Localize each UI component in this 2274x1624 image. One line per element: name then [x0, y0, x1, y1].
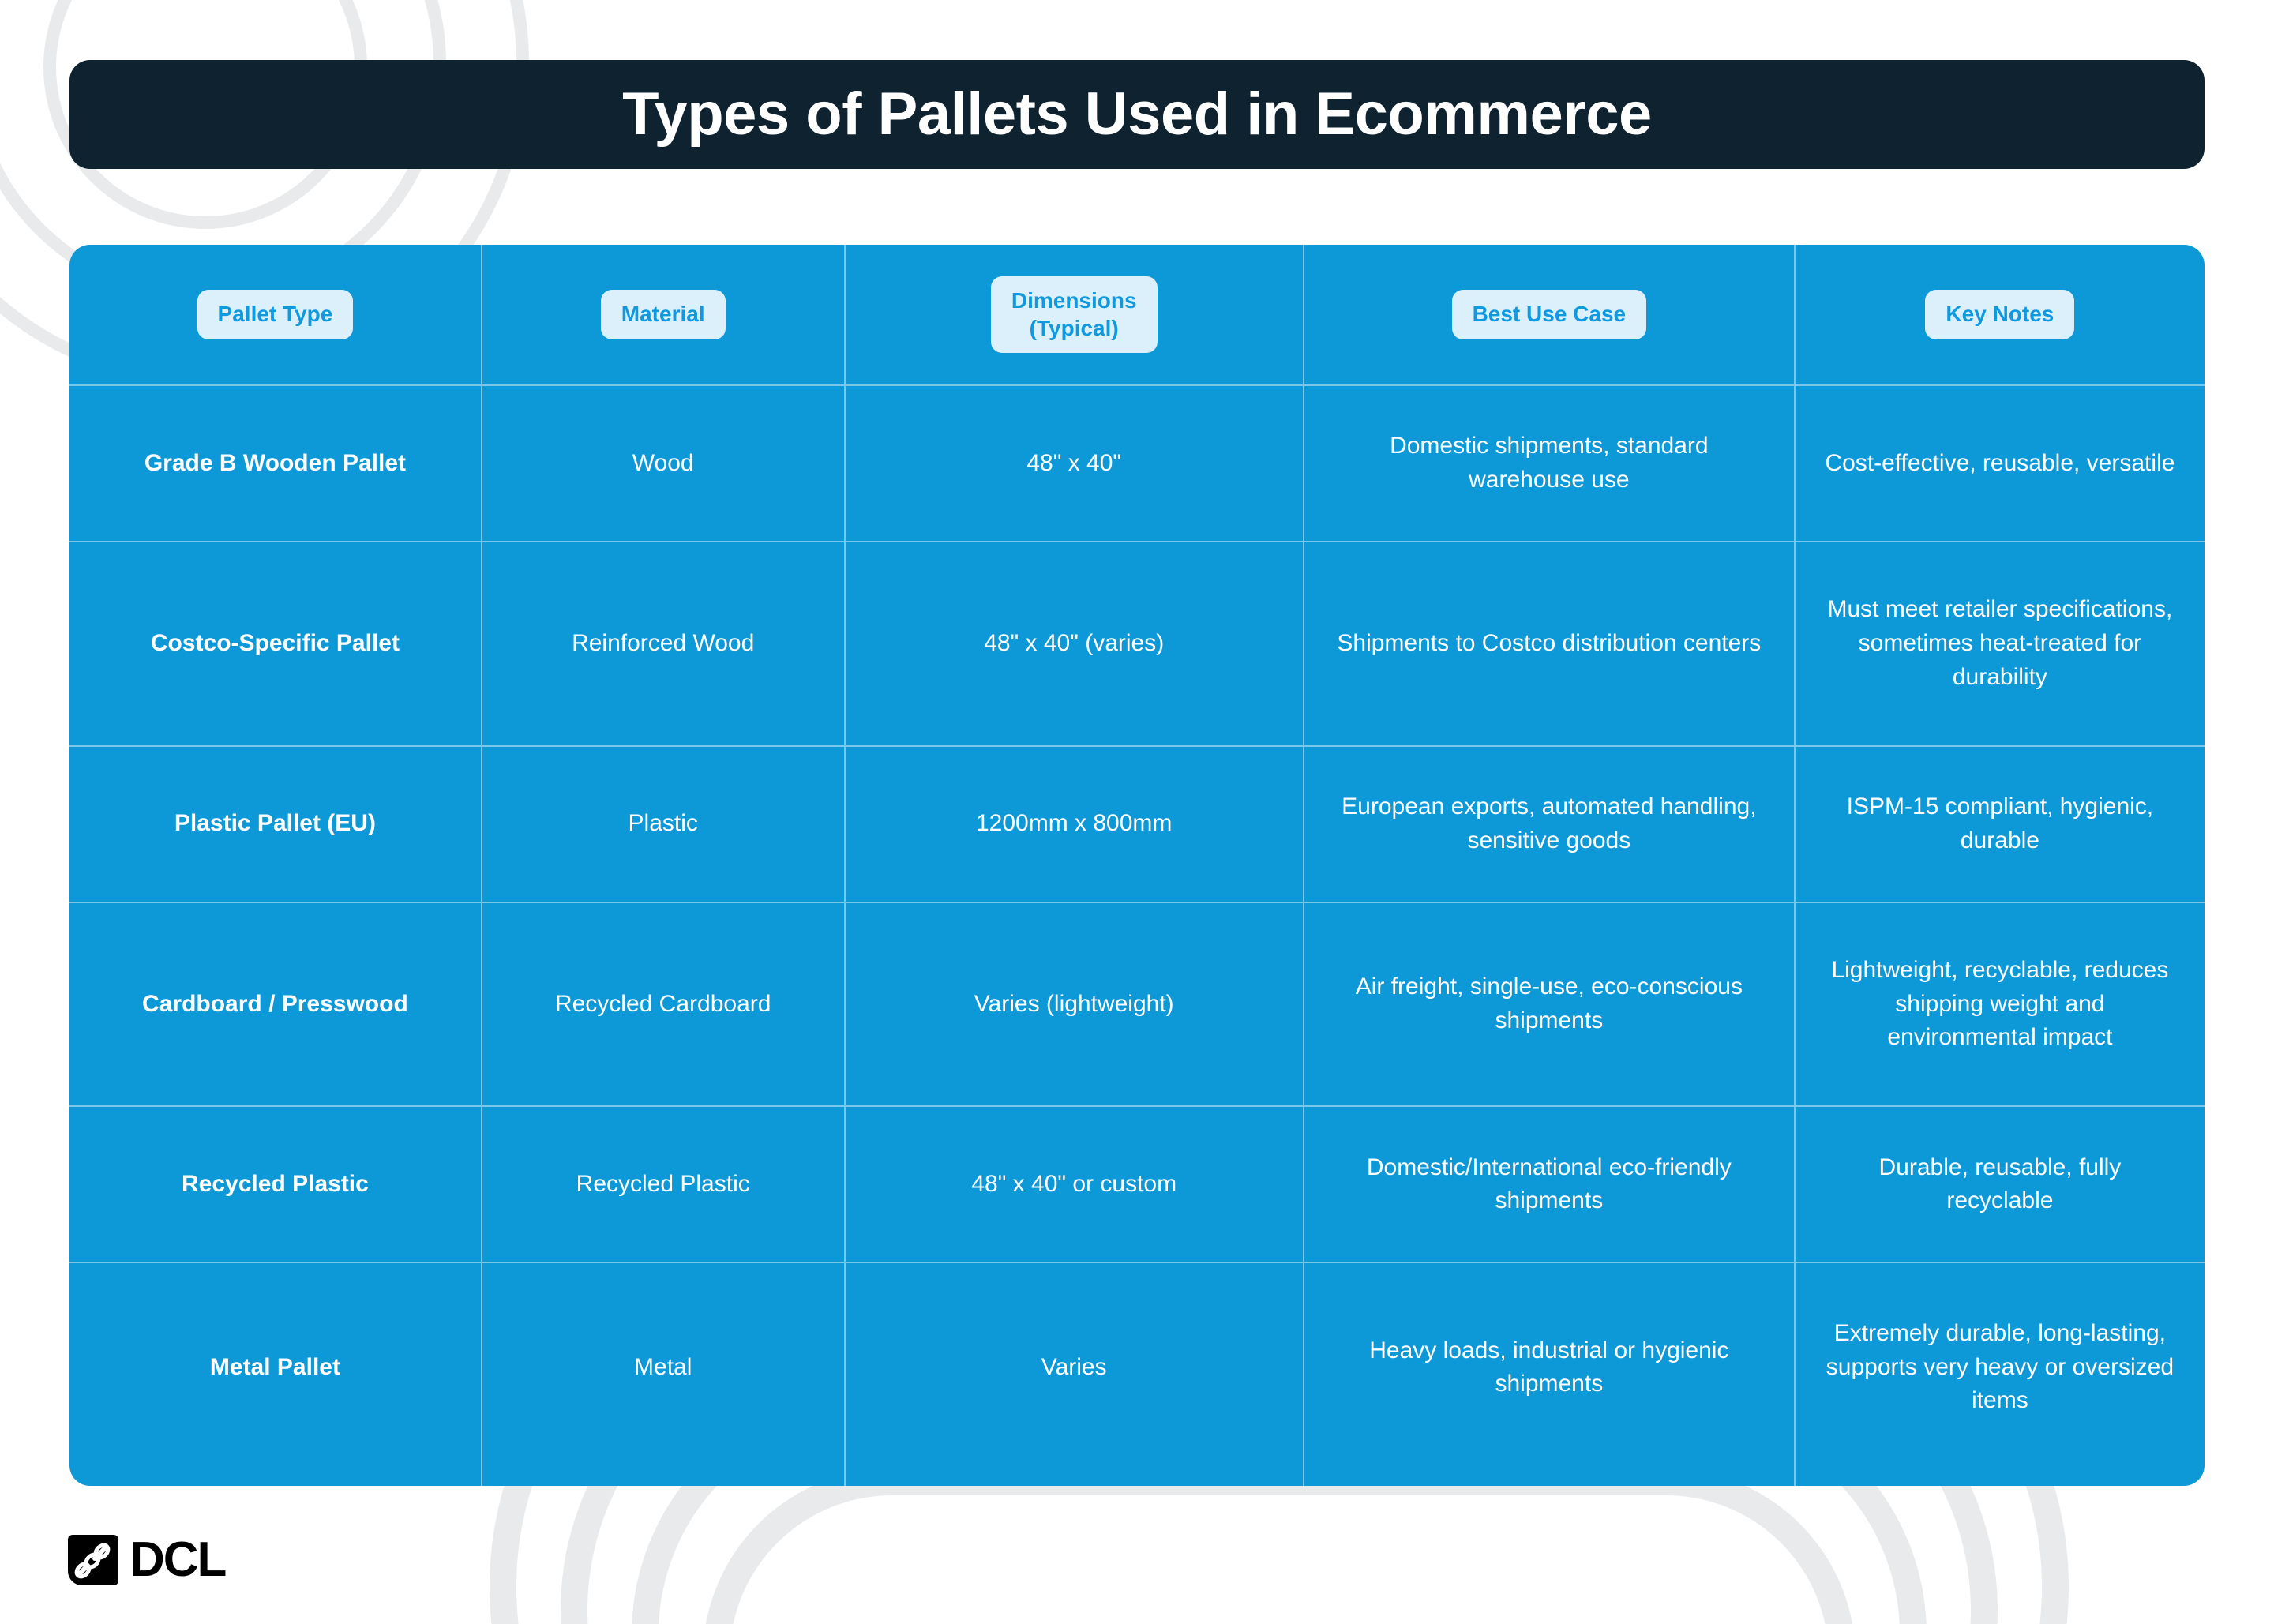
column-header-pallet-type-label: Pallet Type	[197, 290, 354, 339]
table-row: Recycled Plastic Recycled Plastic 48" x …	[69, 1106, 2205, 1262]
cell-dimensions: 48" x 40" (varies)	[845, 542, 1304, 746]
table-row: Plastic Pallet (EU) Plastic 1200mm x 800…	[69, 746, 2205, 902]
cell-best-use-case: Air freight, single-use, eco-conscious s…	[1304, 902, 1795, 1107]
column-header-pallet-type: Pallet Type	[69, 245, 482, 385]
cell-material: Wood	[482, 385, 845, 542]
cell-material: Recycled Cardboard	[482, 902, 845, 1107]
pallet-types-table: Pallet Type Material Dimensions (Typical…	[69, 245, 2205, 1486]
table-header-row: Pallet Type Material Dimensions (Typical…	[69, 245, 2205, 385]
cell-key-notes: Extremely durable, long-lasting, support…	[1795, 1262, 2205, 1486]
cell-pallet-type: Costco-Specific Pallet	[69, 542, 482, 746]
cell-key-notes: Must meet retailer specifications, somet…	[1795, 542, 2205, 746]
column-header-best-use-case: Best Use Case	[1304, 245, 1795, 385]
cell-key-notes: ISPM-15 compliant, hygienic, durable	[1795, 746, 2205, 902]
column-header-key-notes: Key Notes	[1795, 245, 2205, 385]
cell-dimensions: 1200mm x 800mm	[845, 746, 1304, 902]
column-header-material: Material	[482, 245, 845, 385]
cell-dimensions: 48" x 40" or custom	[845, 1106, 1304, 1262]
cell-dimensions: 48" x 40"	[845, 385, 1304, 542]
infographic-page: Types of Pallets Used in Ecommerce Palle…	[0, 0, 2274, 1624]
column-header-dimensions-label: Dimensions (Typical)	[991, 276, 1158, 352]
table-row: Costco-Specific Pallet Reinforced Wood 4…	[69, 542, 2205, 746]
chain-link-icon-glyph	[68, 1535, 118, 1585]
cell-material: Recycled Plastic	[482, 1106, 845, 1262]
cell-pallet-type: Recycled Plastic	[69, 1106, 482, 1262]
cell-best-use-case: Domestic shipments, standard warehouse u…	[1304, 385, 1795, 542]
cell-pallet-type: Plastic Pallet (EU)	[69, 746, 482, 902]
cell-key-notes: Durable, reusable, fully recyclable	[1795, 1106, 2205, 1262]
table-row: Metal Pallet Metal Varies Heavy loads, i…	[69, 1262, 2205, 1486]
cell-key-notes: Lightweight, recyclable, reduces shippin…	[1795, 902, 2205, 1107]
column-header-material-label: Material	[601, 290, 726, 339]
cell-best-use-case: Heavy loads, industrial or hygienic ship…	[1304, 1262, 1795, 1486]
cell-best-use-case: European exports, automated handling, se…	[1304, 746, 1795, 902]
table-body: Grade B Wooden Pallet Wood 48" x 40" Dom…	[69, 385, 2205, 1486]
cell-material: Reinforced Wood	[482, 542, 845, 746]
cell-dimensions: Varies	[845, 1262, 1304, 1486]
table-row: Grade B Wooden Pallet Wood 48" x 40" Dom…	[69, 385, 2205, 542]
table-header: Pallet Type Material Dimensions (Typical…	[69, 245, 2205, 385]
cell-pallet-type: Metal Pallet	[69, 1262, 482, 1486]
cell-pallet-type: Cardboard / Presswood	[69, 902, 482, 1107]
cell-key-notes: Cost-effective, reusable, versatile	[1795, 385, 2205, 542]
cell-best-use-case: Domestic/International eco-friendly ship…	[1304, 1106, 1795, 1262]
dcl-logo: DCL	[68, 1535, 225, 1585]
table-row: Cardboard / Presswood Recycled Cardboard…	[69, 902, 2205, 1107]
column-header-best-use-case-label: Best Use Case	[1452, 290, 1647, 339]
cell-material: Metal	[482, 1262, 845, 1486]
cell-best-use-case: Shipments to Costco distribution centers	[1304, 542, 1795, 746]
dcl-wordmark: DCL	[129, 1536, 225, 1585]
page-title: Types of Pallets Used in Ecommerce	[622, 84, 1652, 144]
cell-pallet-type: Grade B Wooden Pallet	[69, 385, 482, 542]
column-header-key-notes-label: Key Notes	[1925, 290, 2074, 339]
column-header-dimensions: Dimensions (Typical)	[845, 245, 1304, 385]
cell-dimensions: Varies (lightweight)	[845, 902, 1304, 1107]
decorative-arc-bottom-right-4	[703, 1468, 1856, 1624]
title-banner: Types of Pallets Used in Ecommerce	[69, 60, 2205, 169]
chain-link-icon	[68, 1535, 118, 1585]
cell-material: Plastic	[482, 746, 845, 902]
pallet-types-table-card: Pallet Type Material Dimensions (Typical…	[69, 245, 2205, 1486]
